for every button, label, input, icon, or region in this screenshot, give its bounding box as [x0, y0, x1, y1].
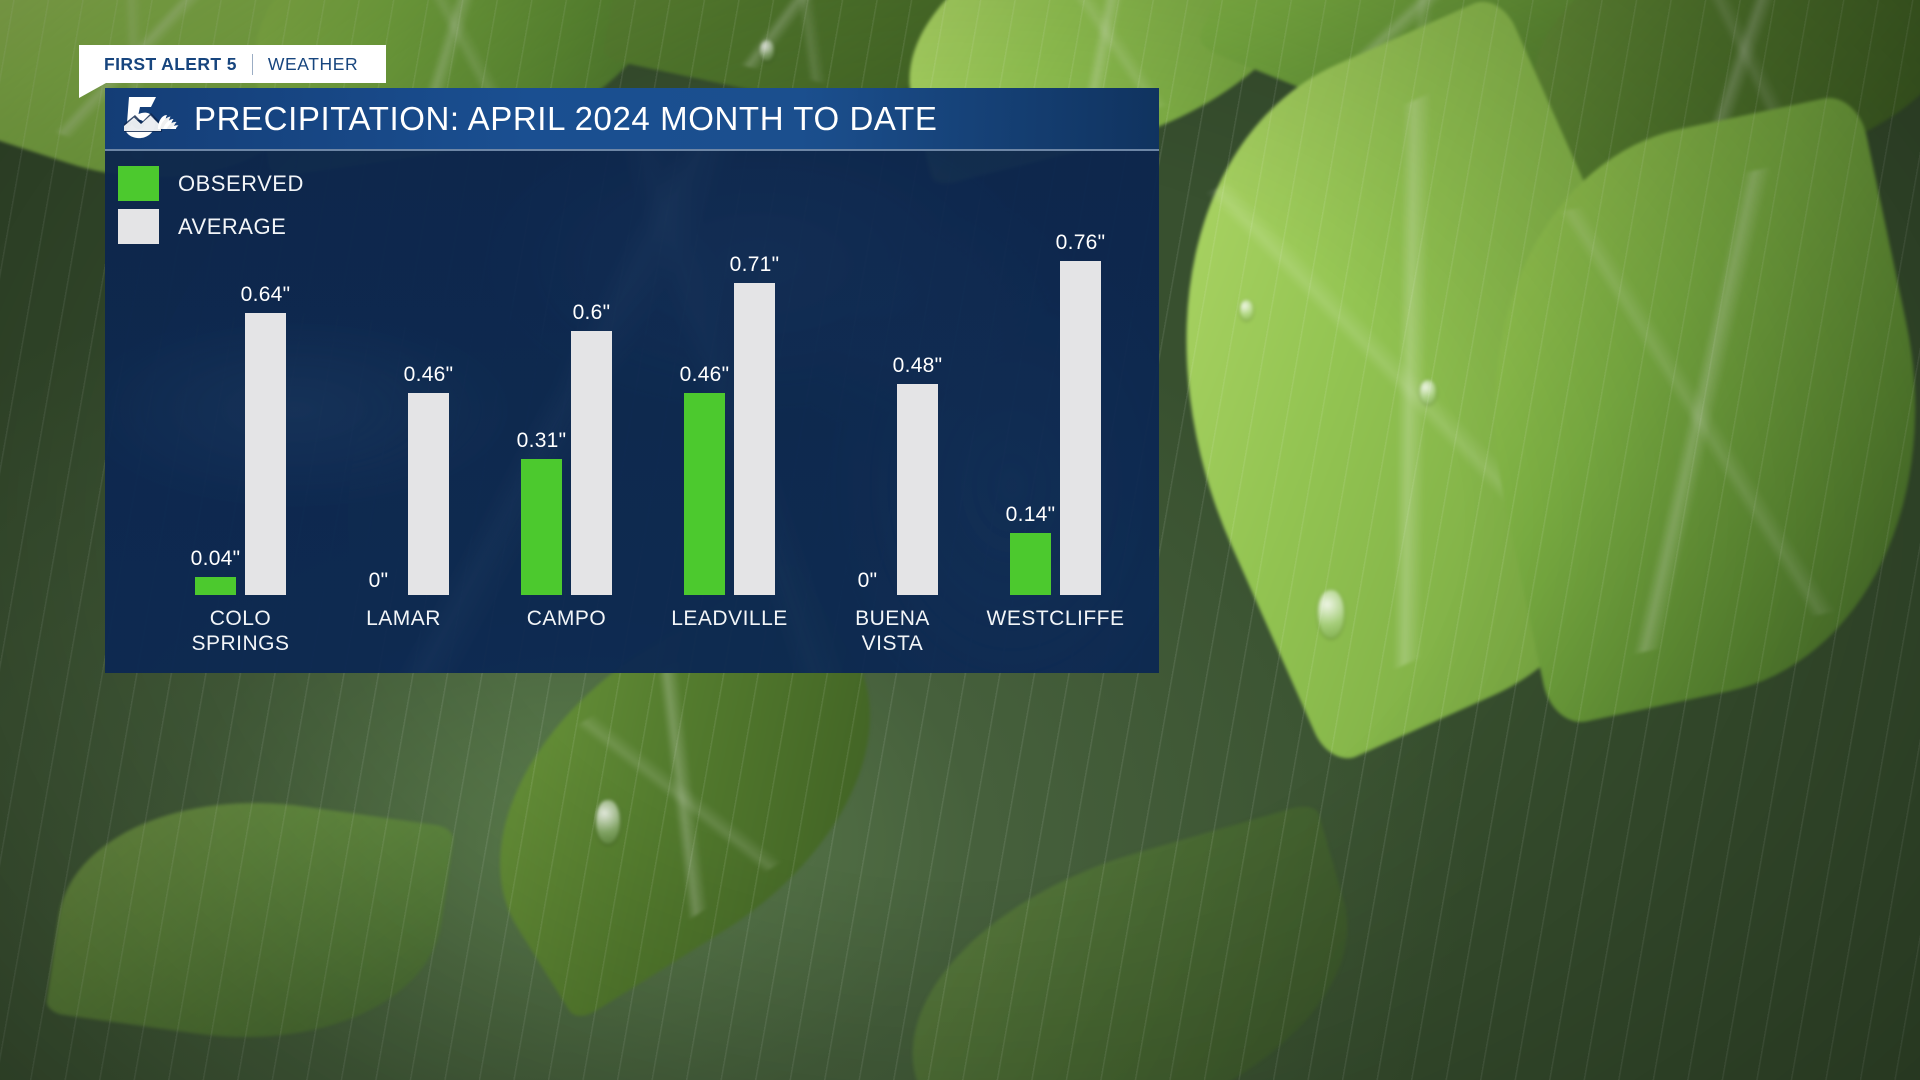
legend-label-average: AVERAGE [178, 214, 286, 240]
bar-value-label: 0.04" [191, 547, 241, 571]
bar-value-label: 0.71" [730, 253, 780, 277]
brand-weather-label: WEATHER [268, 54, 358, 75]
kktv-5-peacock-logo-icon [118, 93, 182, 145]
bar-average: 0.46" [408, 393, 449, 595]
legend-item-average: AVERAGE [118, 209, 1159, 244]
chart-category-label: BUENA VISTA [855, 606, 930, 656]
bar-value-label: 0.64" [241, 283, 291, 307]
weather-graphic-panel: PRECIPITATION: APRIL 2024 MONTH TO DATE … [105, 88, 1159, 673]
bar-observed: 0.46" [684, 393, 725, 595]
bar-slot-observed: 0" [847, 243, 888, 595]
legend-label-observed: OBSERVED [178, 171, 304, 197]
legend-swatch-observed [118, 166, 159, 201]
chart-category-label: WESTCLIFFE [986, 606, 1124, 631]
bar-observed: 0.04" [195, 577, 236, 595]
chart-plot-area: 0.04"0.64"COLO SPRINGS0"0.46"LAMAR0.31"0… [195, 243, 1101, 595]
bar-value-label: 0.6" [573, 301, 611, 325]
chart-legend: OBSERVED AVERAGE [118, 166, 1159, 244]
page-title: PRECIPITATION: APRIL 2024 MONTH TO DATE [194, 100, 937, 138]
bar-value-label: 0.76" [1056, 231, 1106, 255]
chart-group: 0.46"0.71"LEADVILLE [684, 243, 775, 595]
panel-header: PRECIPITATION: APRIL 2024 MONTH TO DATE [105, 88, 1159, 151]
bar-slot-observed: 0.46" [684, 243, 725, 595]
bar-observed: 0.14" [1010, 533, 1051, 595]
bar-slot-observed: 0.31" [521, 243, 562, 595]
bar-observed: 0.31" [521, 459, 562, 595]
bar-slot-observed: 0.04" [195, 243, 236, 595]
bar-average: 0.64" [245, 313, 286, 595]
bar-value-label: 0.31" [517, 429, 567, 453]
bar-value-label: 0.46" [404, 363, 454, 387]
brand-tag: FIRST ALERT 5 WEATHER [79, 45, 386, 83]
brand-first-alert-label: FIRST ALERT 5 [104, 54, 237, 75]
legend-swatch-average [118, 209, 159, 244]
precipitation-bar-chart: 0.04"0.64"COLO SPRINGS0"0.46"LAMAR0.31"0… [105, 243, 1159, 673]
bar-value-label: 0.48" [893, 354, 943, 378]
bar-slot-observed: 0.14" [1010, 243, 1051, 595]
chart-category-label: LAMAR [366, 606, 441, 631]
bar-slot-average: 0.71" [734, 243, 775, 595]
brand-divider [252, 54, 253, 75]
chart-group: 0.14"0.76"WESTCLIFFE [1010, 243, 1101, 595]
bar-slot-average: 0.64" [245, 243, 286, 595]
bar-average: 0.48" [897, 384, 938, 595]
chart-group: 0"0.48"BUENA VISTA [847, 243, 938, 595]
bar-slot-average: 0.46" [408, 243, 449, 595]
bar-value-label: 0" [369, 569, 389, 593]
bar-average: 0.6" [571, 331, 612, 595]
legend-item-observed: OBSERVED [118, 166, 1159, 201]
chart-group: 0.04"0.64"COLO SPRINGS [195, 243, 286, 595]
bar-value-label: 0.46" [680, 363, 730, 387]
bar-average: 0.76" [1060, 261, 1101, 595]
bar-slot-average: 0.48" [897, 243, 938, 595]
bar-average: 0.71" [734, 283, 775, 595]
bar-slot-observed: 0" [358, 243, 399, 595]
bar-slot-average: 0.76" [1060, 243, 1101, 595]
bar-value-label: 0" [858, 569, 878, 593]
bar-value-label: 0.14" [1006, 503, 1056, 527]
chart-category-label: LEADVILLE [671, 606, 788, 631]
bar-slot-average: 0.6" [571, 243, 612, 595]
chart-category-label: CAMPO [527, 606, 607, 631]
chart-group: 0.31"0.6"CAMPO [521, 243, 612, 595]
chart-group: 0"0.46"LAMAR [358, 243, 449, 595]
chart-category-label: COLO SPRINGS [191, 606, 289, 656]
